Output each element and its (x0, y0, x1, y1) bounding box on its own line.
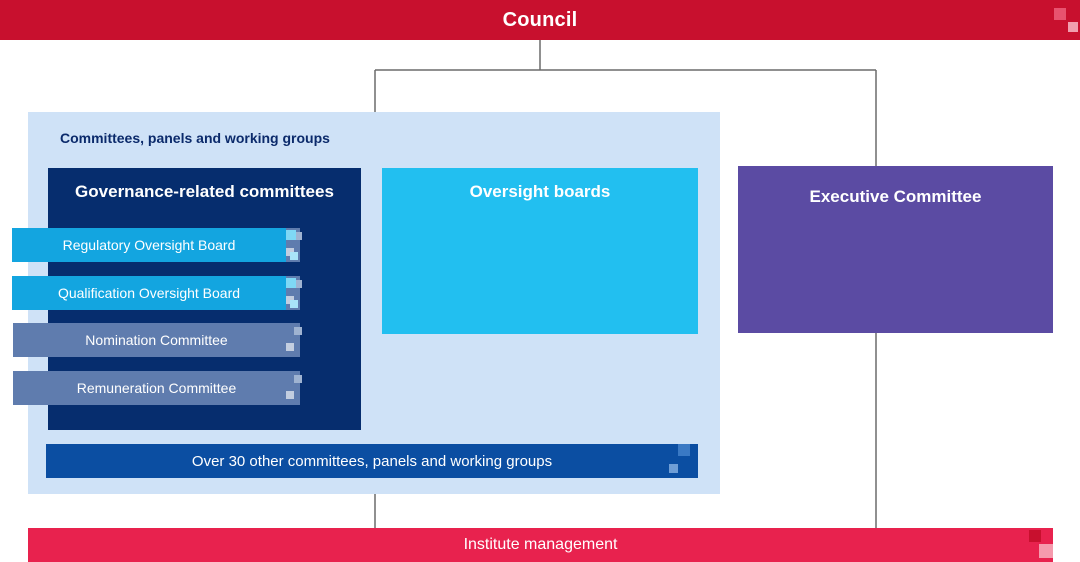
committees-panel-title: Committees, panels and working groups (60, 130, 330, 146)
other-committees-bar[interactable]: Over 30 other committees, panels and wor… (46, 444, 698, 478)
governance-item-nomination[interactable]: Nomination Committee (13, 323, 300, 357)
square-decoration (1029, 530, 1041, 542)
square-decoration (290, 252, 298, 260)
square-decoration-large (1054, 8, 1066, 20)
council-corner-decoration (1044, 0, 1080, 40)
square-decoration (294, 375, 302, 383)
oversight-item-regulatory[interactable]: Regulatory Oversight Board (12, 228, 286, 262)
executive-committee-title: Executive Committee (738, 187, 1053, 207)
org-chart-diagram: Council Committees, panels and working g… (0, 0, 1080, 561)
square-decoration (286, 343, 294, 351)
executive-committee-box: Executive Committee (738, 166, 1053, 333)
square-decoration (286, 230, 296, 240)
governance-item-remuneration[interactable]: Remuneration Committee (13, 371, 300, 405)
council-title: Council (503, 9, 578, 32)
council-bar: Council (0, 0, 1080, 40)
governance-item-label: Nomination Committee (85, 332, 227, 348)
square-decoration (678, 444, 690, 456)
oversight-item-label: Qualification Oversight Board (58, 285, 240, 301)
square-decoration (669, 464, 678, 473)
other-committees-label: Over 30 other committees, panels and wor… (192, 453, 552, 470)
governance-item-label: Remuneration Committee (77, 380, 237, 396)
square-decoration (286, 391, 294, 399)
square-decoration-small (1068, 22, 1078, 32)
institute-management-title: Institute management (464, 536, 618, 554)
oversight-item-label: Regulatory Oversight Board (63, 237, 236, 253)
square-decoration (286, 278, 296, 288)
oversight-boards-box: Oversight boards (382, 168, 698, 334)
oversight-boards-title: Oversight boards (382, 182, 698, 202)
oversight-item-qualification[interactable]: Qualification Oversight Board (12, 276, 286, 310)
square-decoration (1039, 544, 1053, 558)
governance-committees-title: Governance-related committees (48, 182, 361, 202)
square-decoration (294, 327, 302, 335)
square-decoration (290, 300, 298, 308)
institute-management-bar: Institute management (28, 528, 1053, 562)
